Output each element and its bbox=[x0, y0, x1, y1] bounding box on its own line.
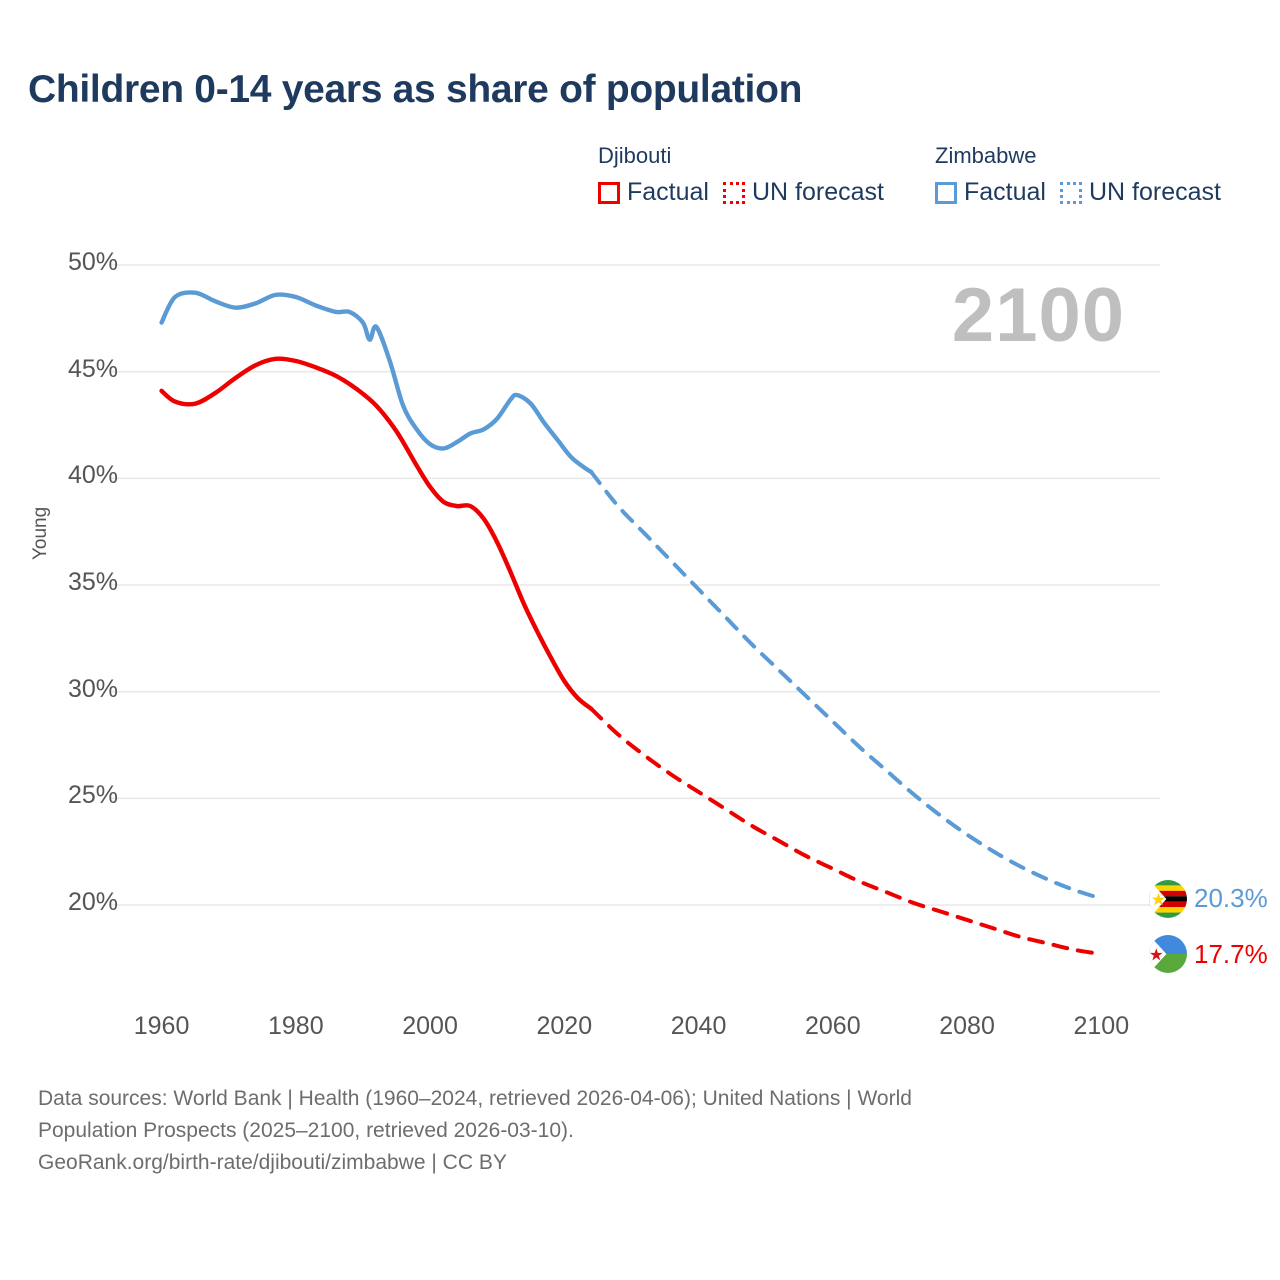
endpoint-zimbabwe: 20.3% bbox=[1149, 880, 1268, 918]
series-lines bbox=[162, 292, 1102, 954]
x-tick-1960: 1960 bbox=[102, 1012, 222, 1041]
x-tick-2000: 2000 bbox=[370, 1012, 490, 1041]
y-tick-25%: 25% bbox=[22, 781, 118, 810]
y-tick-40%: 40% bbox=[22, 461, 118, 490]
x-tick-1980: 1980 bbox=[236, 1012, 356, 1041]
endpoint-value-djibouti: 17.7% bbox=[1194, 939, 1268, 970]
djibouti-flag-icon bbox=[1149, 935, 1187, 973]
endpoint-djibouti: 17.7% bbox=[1149, 935, 1268, 973]
x-tick-2060: 2060 bbox=[773, 1012, 893, 1041]
footer-line-3: GeoRank.org/birth-rate/djibouti/zimbabwe… bbox=[38, 1147, 1218, 1179]
y-tick-45%: 45% bbox=[22, 355, 118, 384]
y-tick-30%: 30% bbox=[22, 675, 118, 704]
zimbabwe-flag-icon bbox=[1149, 880, 1187, 918]
series-line-zimbabwe-forecast bbox=[591, 472, 1101, 899]
x-tick-2080: 2080 bbox=[907, 1012, 1027, 1041]
chart-container: Children 0-14 years as share of populati… bbox=[0, 0, 1280, 1280]
series-line-djibouti-forecast bbox=[591, 709, 1101, 954]
series-line-zimbabwe-factual bbox=[162, 292, 592, 472]
series-line-djibouti-factual bbox=[162, 359, 592, 709]
endpoint-value-zimbabwe: 20.3% bbox=[1194, 883, 1268, 914]
x-tick-2100: 2100 bbox=[1041, 1012, 1161, 1041]
y-tick-50%: 50% bbox=[22, 248, 118, 277]
footer-line-2: Population Prospects (2025–2100, retriev… bbox=[38, 1115, 1218, 1147]
y-tick-35%: 35% bbox=[22, 568, 118, 597]
x-tick-2040: 2040 bbox=[639, 1012, 759, 1041]
footer-sources: Data sources: World Bank | Health (1960–… bbox=[38, 1083, 1218, 1179]
x-tick-2020: 2020 bbox=[504, 1012, 624, 1041]
plot-area bbox=[0, 0, 1280, 1060]
y-tick-20%: 20% bbox=[22, 888, 118, 917]
footer-line-1: Data sources: World Bank | Health (1960–… bbox=[38, 1083, 1218, 1115]
